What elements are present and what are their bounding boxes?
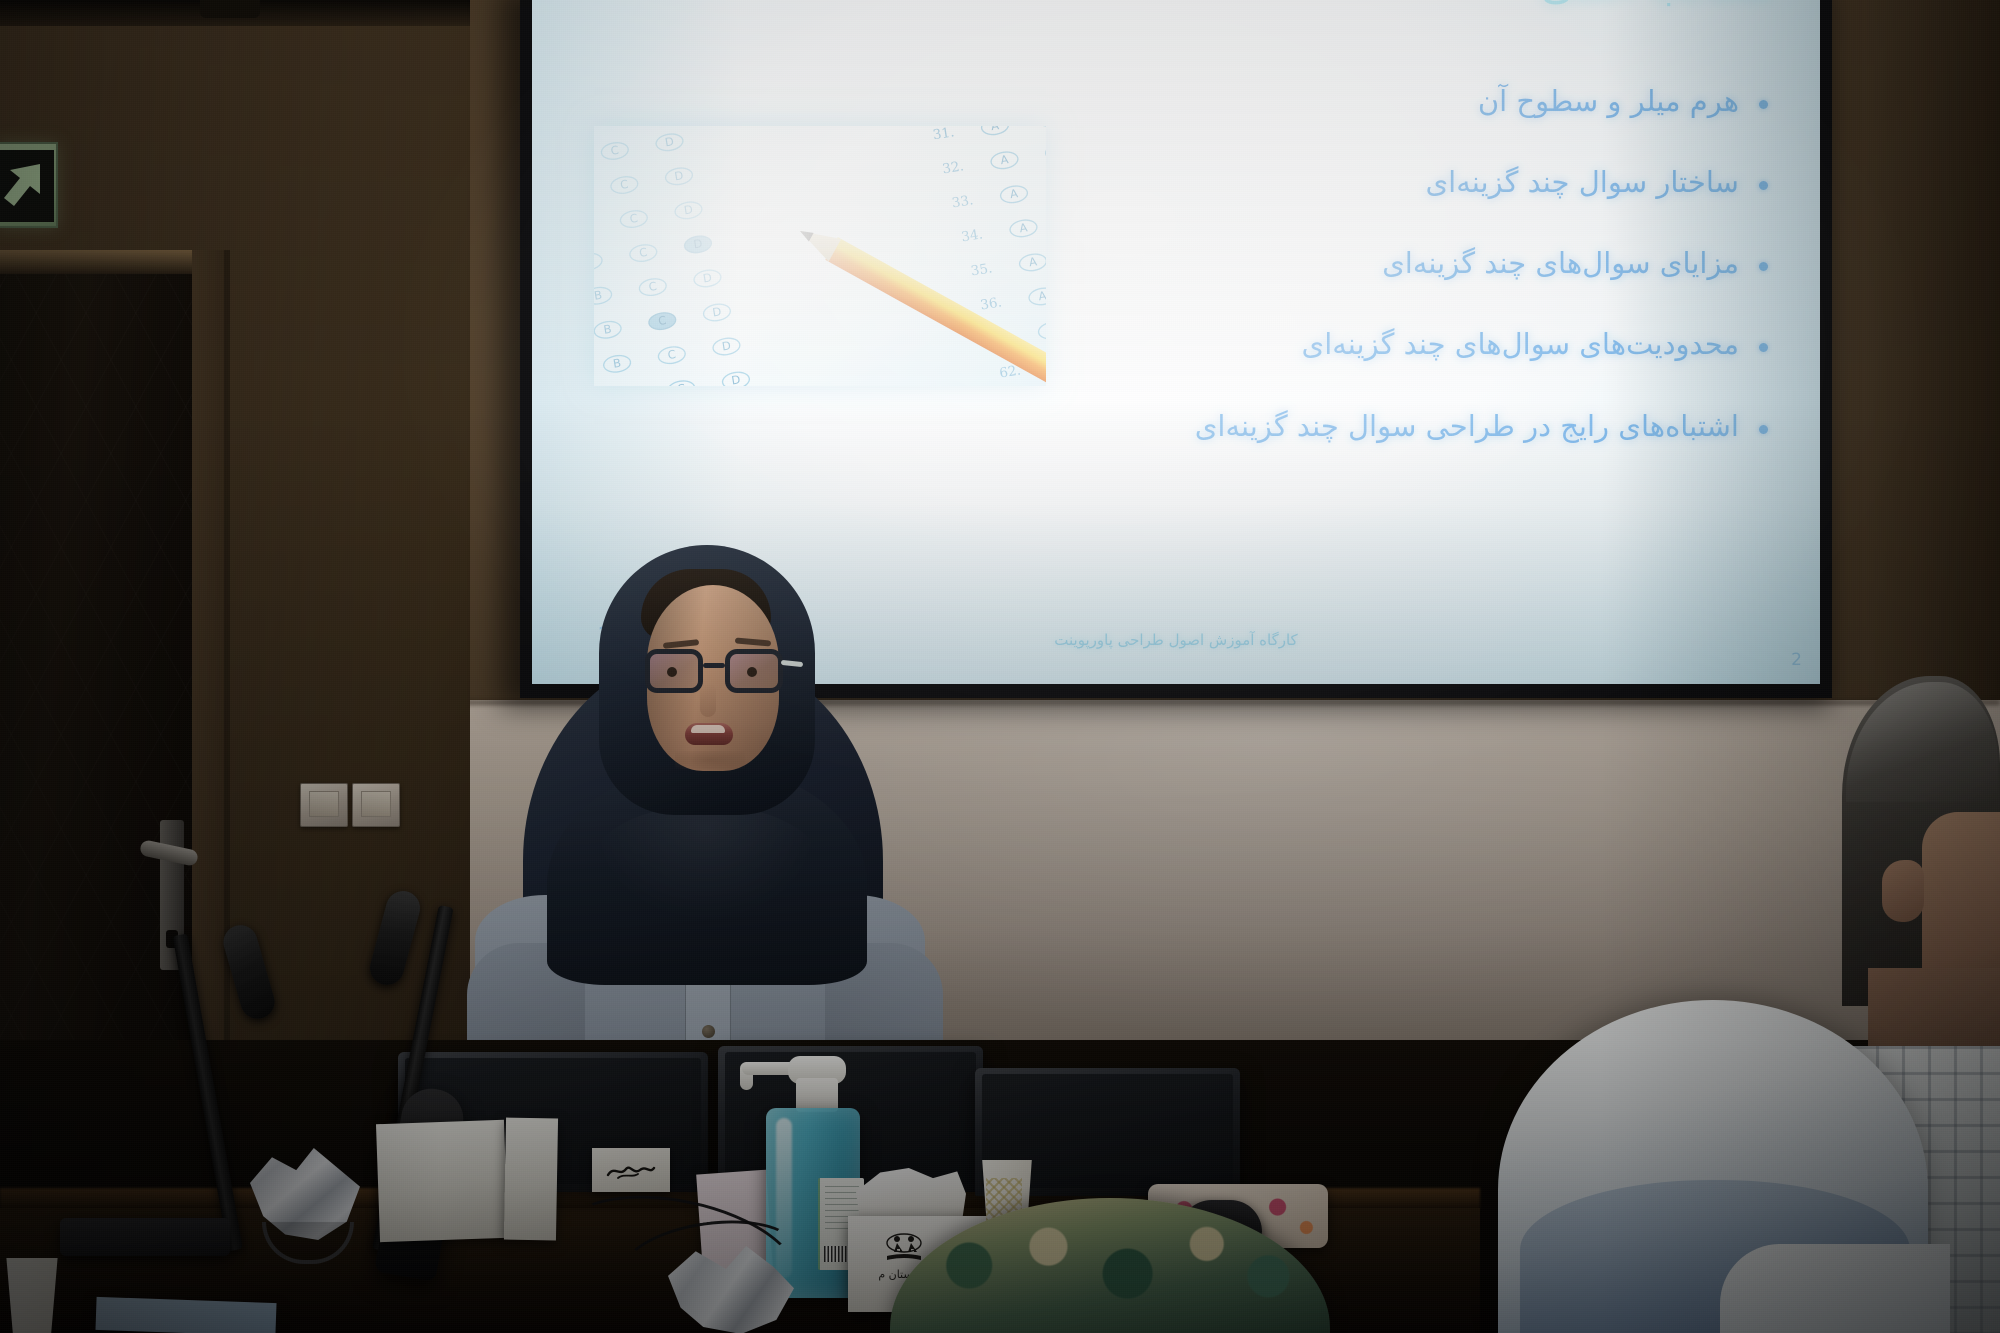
bullet-dot-icon: [1759, 343, 1768, 352]
paper-card: [376, 1120, 508, 1242]
bubble-row: 31.ABCD: [924, 126, 1046, 146]
list-item: هرم میلر و سطوح آن: [1128, 82, 1768, 121]
ceiling-fitting: [200, 0, 260, 18]
answer-bubble: A: [1018, 252, 1046, 274]
answer-bubble: D: [692, 268, 723, 290]
answer-bubble: B: [594, 217, 595, 239]
bullet-text: اشتباه‌های رایج در طراحی سوال چند گزینه‌…: [1195, 407, 1739, 446]
bubble-row-number: 32.: [933, 159, 965, 178]
nose: [700, 683, 716, 717]
hospital-logo-icon: [884, 1232, 924, 1266]
bubble-row-number: 35.: [962, 262, 994, 281]
chin-shadow: [675, 751, 745, 769]
sanitizer-neck: [796, 1078, 838, 1112]
answer-bubble: C: [618, 208, 649, 230]
answer-bubble: C: [656, 344, 687, 366]
shirt-button: [702, 1025, 715, 1038]
wall-switch-plate-right[interactable]: [352, 783, 400, 827]
answer-bubble: D: [654, 131, 685, 153]
microphone-base: [60, 1218, 230, 1256]
answer-bubble: A: [980, 126, 1011, 137]
slide-title: مطالب اصلی: [1541, 0, 1774, 9]
answer-bubble: C: [628, 242, 659, 264]
answer-bubble: D: [673, 199, 704, 221]
bullet-dot-icon: [1759, 262, 1768, 271]
list-item: اشتباه‌های رایج در طراحی سوال چند گزینه‌…: [1128, 407, 1768, 446]
presentation-room-photo: مطالب اصلی هرم میلر و سطوح آن ساختار سوا…: [0, 0, 2000, 1333]
slide-bullet-list: هرم میلر و سطوح آن ساختار سوال چند گزینه…: [1128, 82, 1768, 488]
bullet-dot-icon: [1759, 425, 1768, 434]
handwriting-icon: [604, 1159, 658, 1181]
glasses-temple-arm: [781, 660, 803, 667]
list-item: محدودیت‌های سوال‌های چند گزینه‌ای: [1128, 325, 1768, 364]
teeth: [691, 725, 725, 733]
answer-bubble: A: [1008, 217, 1039, 239]
bubble-row-number: 33.: [943, 193, 975, 212]
answer-bubble: C: [599, 140, 630, 162]
bullet-dot-icon: [1759, 181, 1768, 190]
answer-bubble: B: [1044, 141, 1046, 163]
answer-bubble: B: [1034, 126, 1046, 129]
paper-card: [95, 1297, 276, 1333]
bullet-text: ساختار سوال چند گزینه‌ای: [1425, 163, 1739, 202]
paper-card: [504, 1118, 558, 1241]
answer-bubble: D: [702, 302, 733, 324]
answer-bubble: B: [594, 319, 623, 341]
glasses-bridge: [703, 663, 725, 668]
bubble-row-number: 31.: [924, 126, 956, 145]
answer-bubble: B: [594, 285, 614, 307]
answer-bubble: C: [647, 310, 678, 332]
exit-arrow-icon: [0, 150, 54, 222]
answer-bubble: A: [1027, 286, 1046, 308]
presenter-woman: [495, 555, 915, 1055]
answer-bubble: D: [711, 336, 742, 358]
answer-bubble: A: [1037, 320, 1046, 342]
bullet-text: هرم میلر و سطوح آن: [1478, 82, 1739, 121]
wall-switch-plate-left[interactable]: [300, 783, 348, 827]
answer-bubble: C: [666, 378, 697, 386]
answer-bubble: D: [721, 370, 752, 386]
answer-bubble: B: [602, 353, 633, 375]
eye-left: [667, 667, 677, 677]
attendee-man-ear: [1882, 860, 1924, 922]
answer-bubble: B: [594, 251, 604, 273]
bullet-text: مزایای سوال‌های چند گزینه‌ای: [1382, 244, 1739, 283]
bubble-row-number: 34.: [952, 227, 984, 246]
bubble-row-number: 36.: [971, 296, 1003, 315]
bullet-text: محدودیت‌های سوال‌های چند گزینه‌ای: [1302, 325, 1740, 364]
answer-bubble: A: [989, 149, 1020, 171]
eye-right: [747, 667, 757, 677]
hijab-fold-highlight: [591, 805, 821, 925]
slide-page-number: 2: [1791, 650, 1802, 670]
answer-bubble: C: [594, 126, 621, 128]
door-top-trim: [0, 250, 192, 274]
list-item: ساختار سوال چند گزینه‌ای: [1128, 163, 1768, 202]
answer-bubble: A: [999, 183, 1030, 205]
nameplate: [592, 1148, 670, 1192]
answer-bubble: D: [664, 165, 695, 187]
answer-bubble: D: [683, 234, 714, 256]
emergency-exit-sign: [0, 142, 58, 228]
list-item: مزایای سوال‌های چند گزینه‌ای: [1128, 244, 1768, 283]
answer-bubble: C: [609, 174, 640, 196]
answer-sheet-image: 28.ABCD28.ABCD29.ABCD29.ABCD30.ABCD30.AB…: [594, 126, 1046, 386]
answer-bubble: C: [637, 276, 668, 298]
bullet-dot-icon: [1759, 100, 1768, 109]
slide-footer-text: کارگاه آموزش اصول طراحی پاورپوینت: [1054, 631, 1297, 649]
attendee-white-shoulder: [1720, 1244, 1950, 1333]
